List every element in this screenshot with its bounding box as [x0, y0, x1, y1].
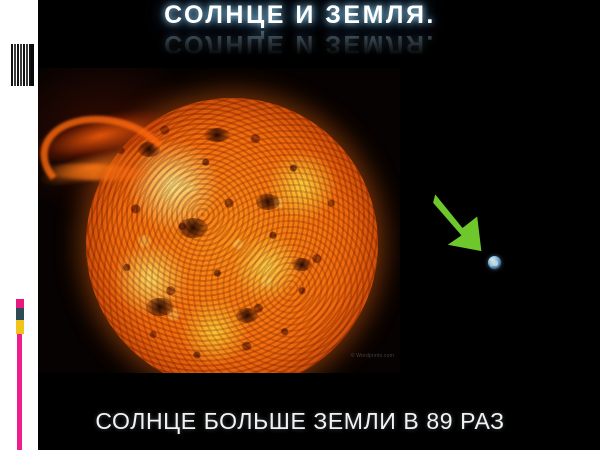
barcode-stripes-decor — [11, 44, 33, 86]
slide-title: СОЛНЦЕ И ЗЕМЛЯ. — [0, 2, 600, 29]
green-arrow-icon — [425, 182, 495, 262]
presentation-slide: СОЛНЦЕ И ЗЕМЛЯ. СОЛНЦЕ И ЗЕМЛЯ. © Wordpr… — [0, 0, 600, 450]
barcode-stripes-edge — [31, 44, 34, 86]
color-swatch-magenta — [16, 299, 24, 308]
earth-landmass — [488, 256, 501, 269]
slide-caption: СОЛНЦЕ БОЛЬШЕ ЗЕМЛИ В 89 РАЗ — [0, 408, 600, 435]
slide-title-reflection: СОЛНЦЕ И ЗЕМЛЯ. — [0, 30, 600, 57]
slide-title-block: СОЛНЦЕ И ЗЕМЛЯ. СОЛНЦЕ И ЗЕМЛЯ. — [0, 2, 600, 58]
sun-photograph: © Wordprints.com — [38, 68, 400, 373]
earth-sphere — [488, 256, 501, 269]
photo-watermark: © Wordprints.com — [351, 353, 394, 359]
color-swatch-gold — [16, 320, 24, 334]
color-swatch-teal — [16, 308, 24, 320]
